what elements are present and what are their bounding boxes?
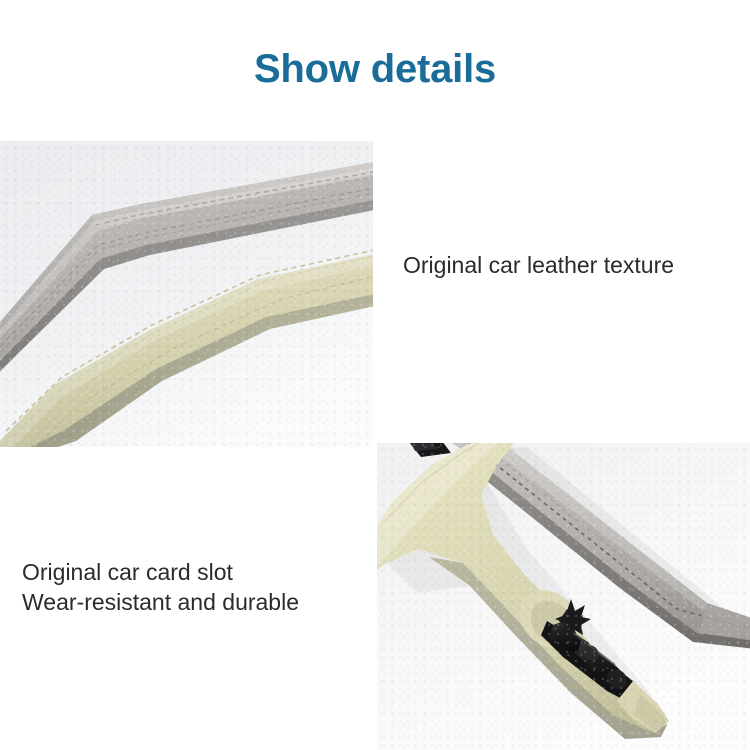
leather-texture-illustration — [0, 141, 373, 447]
leather-texture-photo — [0, 141, 373, 447]
caption-leather-texture: Original car leather texture — [403, 250, 674, 280]
card-slot-photo — [377, 443, 750, 750]
caption-card-slot: Original car card slot Wear-resistant an… — [22, 557, 299, 617]
card-slot-illustration — [377, 443, 750, 750]
page-title: Show details — [0, 47, 750, 91]
product-detail-page: Show details — [0, 0, 750, 750]
